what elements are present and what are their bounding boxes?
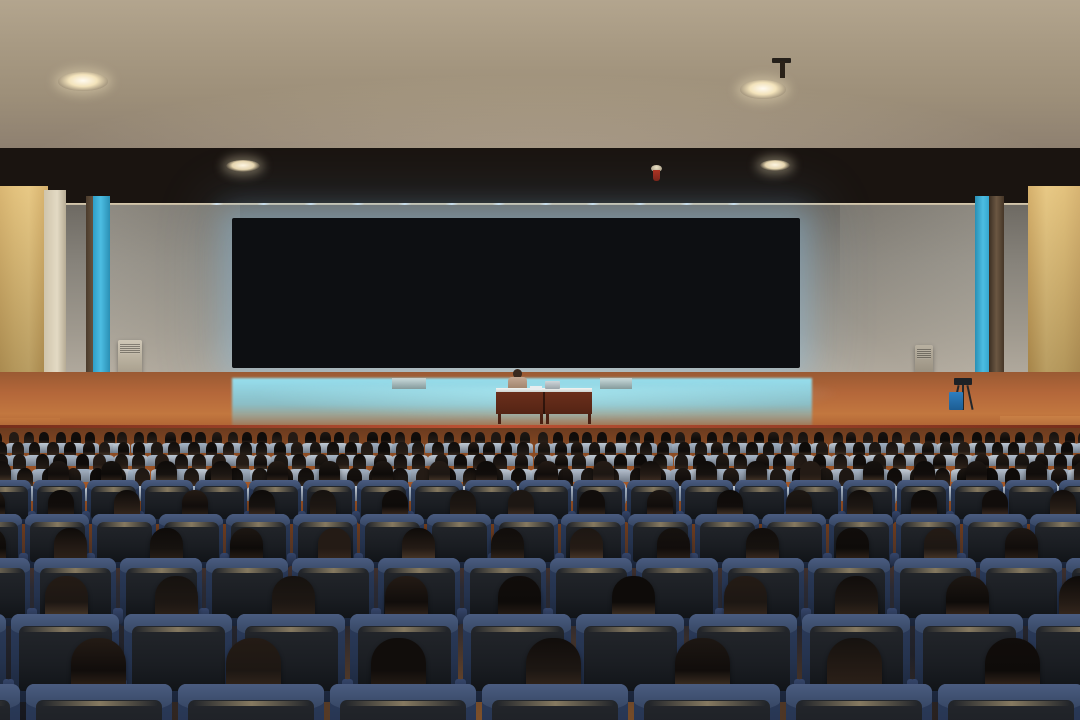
seat-highlight — [166, 522, 217, 527]
speaker-grill — [120, 344, 140, 354]
tripod-leg — [966, 385, 973, 410]
seat-cushion — [1036, 626, 1080, 691]
seat-highlight — [367, 522, 418, 527]
seat-highlight — [387, 568, 453, 573]
table-leg — [540, 414, 543, 424]
seat-highlight — [731, 568, 797, 573]
seat-highlight — [215, 568, 281, 573]
seat-highlight — [568, 522, 619, 527]
seat-highlight — [702, 522, 753, 527]
equipment-case — [949, 392, 963, 410]
seat-highlight — [0, 701, 6, 706]
seat-highlight — [345, 701, 462, 706]
seat-highlight — [817, 568, 883, 573]
seat-cushion — [97, 522, 152, 562]
seat-highlight — [953, 701, 1070, 706]
seat-cushion — [1035, 522, 1080, 562]
seat-highlight — [989, 568, 1055, 573]
auditorium-seat[interactable] — [482, 684, 628, 720]
seat-highlight — [926, 627, 1012, 632]
seat-highlight — [801, 701, 918, 706]
papers-on-table — [530, 386, 542, 390]
seat-highlight — [741, 487, 783, 492]
seat-highlight — [471, 487, 513, 492]
seat-highlight — [41, 701, 158, 706]
seat-highlight — [970, 522, 1021, 527]
lecture-table-divider — [543, 392, 545, 414]
auditorium-seat[interactable] — [178, 684, 324, 720]
downlight-icon — [58, 72, 108, 91]
fire-sprinkler-bulb — [653, 170, 660, 181]
seat-cushion — [432, 522, 487, 562]
seat-highlight — [587, 627, 673, 632]
audience-seating — [0, 428, 1080, 720]
projection-screen-bezel: 一、困局：执法尴尬不断，规范亟待完善 现场执法是当前亟待解决的问题 1、现场执法… — [232, 218, 800, 368]
seat-highlight — [1011, 487, 1053, 492]
seat-highlight — [233, 522, 284, 527]
auditorium-seat[interactable] — [786, 684, 932, 720]
ceiling — [0, 0, 1080, 148]
background-table-right — [600, 378, 632, 389]
seat-highlight — [525, 487, 567, 492]
seat-highlight — [129, 568, 195, 573]
seat-highlight — [645, 568, 711, 573]
seat-highlight — [1037, 522, 1080, 527]
auditorium-seat[interactable] — [938, 684, 1080, 720]
seat-highlight — [135, 627, 221, 632]
projector-mount — [780, 61, 785, 78]
seat-cushion — [986, 568, 1057, 618]
table-leg — [546, 414, 549, 424]
seat-highlight — [474, 627, 560, 632]
background-table-left — [392, 378, 426, 389]
auditorium-seat[interactable] — [26, 684, 172, 720]
seat-highlight — [501, 522, 552, 527]
seat-cushion — [584, 626, 677, 691]
seat-highlight — [1039, 627, 1080, 632]
seat-highlight — [836, 522, 887, 527]
seat-highlight — [22, 627, 108, 632]
seat-highlight — [649, 701, 766, 706]
seat-highlight — [903, 568, 969, 573]
downlight-icon — [226, 160, 260, 172]
seat-highlight — [417, 487, 459, 492]
seat-highlight — [300, 522, 351, 527]
seat-cushion — [132, 626, 225, 691]
laptop-icon — [545, 381, 560, 389]
seat-cushion — [0, 568, 25, 618]
seat-highlight — [700, 627, 786, 632]
downlight-icon — [740, 80, 786, 99]
seat-highlight — [769, 522, 820, 527]
seat-highlight — [0, 487, 26, 492]
audience-uniform — [1075, 443, 1080, 453]
lecture-table-legs — [496, 414, 592, 424]
seat-highlight — [43, 568, 109, 573]
auditorium-seat[interactable] — [634, 684, 780, 720]
seat-highlight — [473, 568, 539, 573]
seat-highlight — [201, 487, 243, 492]
downlight-icon — [760, 160, 790, 171]
seat-highlight — [301, 568, 367, 573]
auditorium-scene: 一、困局：执法尴尬不断，规范亟待完善 现场执法是当前亟待解决的问题 1、现场执法… — [0, 0, 1080, 720]
seat-highlight — [0, 568, 22, 573]
seat-highlight — [147, 487, 189, 492]
seat-highlight — [497, 701, 614, 706]
auditorium-seat[interactable] — [330, 684, 476, 720]
seat-highlight — [99, 522, 150, 527]
ceiling-soffit — [0, 140, 1080, 208]
seat-highlight — [0, 522, 16, 527]
seat-highlight — [248, 627, 334, 632]
table-leg — [498, 414, 501, 424]
seat-highlight — [434, 522, 485, 527]
seat-highlight — [361, 627, 447, 632]
seat-highlight — [1075, 568, 1080, 573]
seat-highlight — [635, 522, 686, 527]
auditorium-seat[interactable] — [0, 684, 20, 720]
speaker-grill — [917, 349, 931, 359]
seat-highlight — [813, 627, 899, 632]
table-leg — [588, 414, 591, 424]
seat-highlight — [193, 701, 310, 706]
seat-highlight — [559, 568, 625, 573]
seat-highlight — [32, 522, 83, 527]
seat-highlight — [903, 522, 954, 527]
